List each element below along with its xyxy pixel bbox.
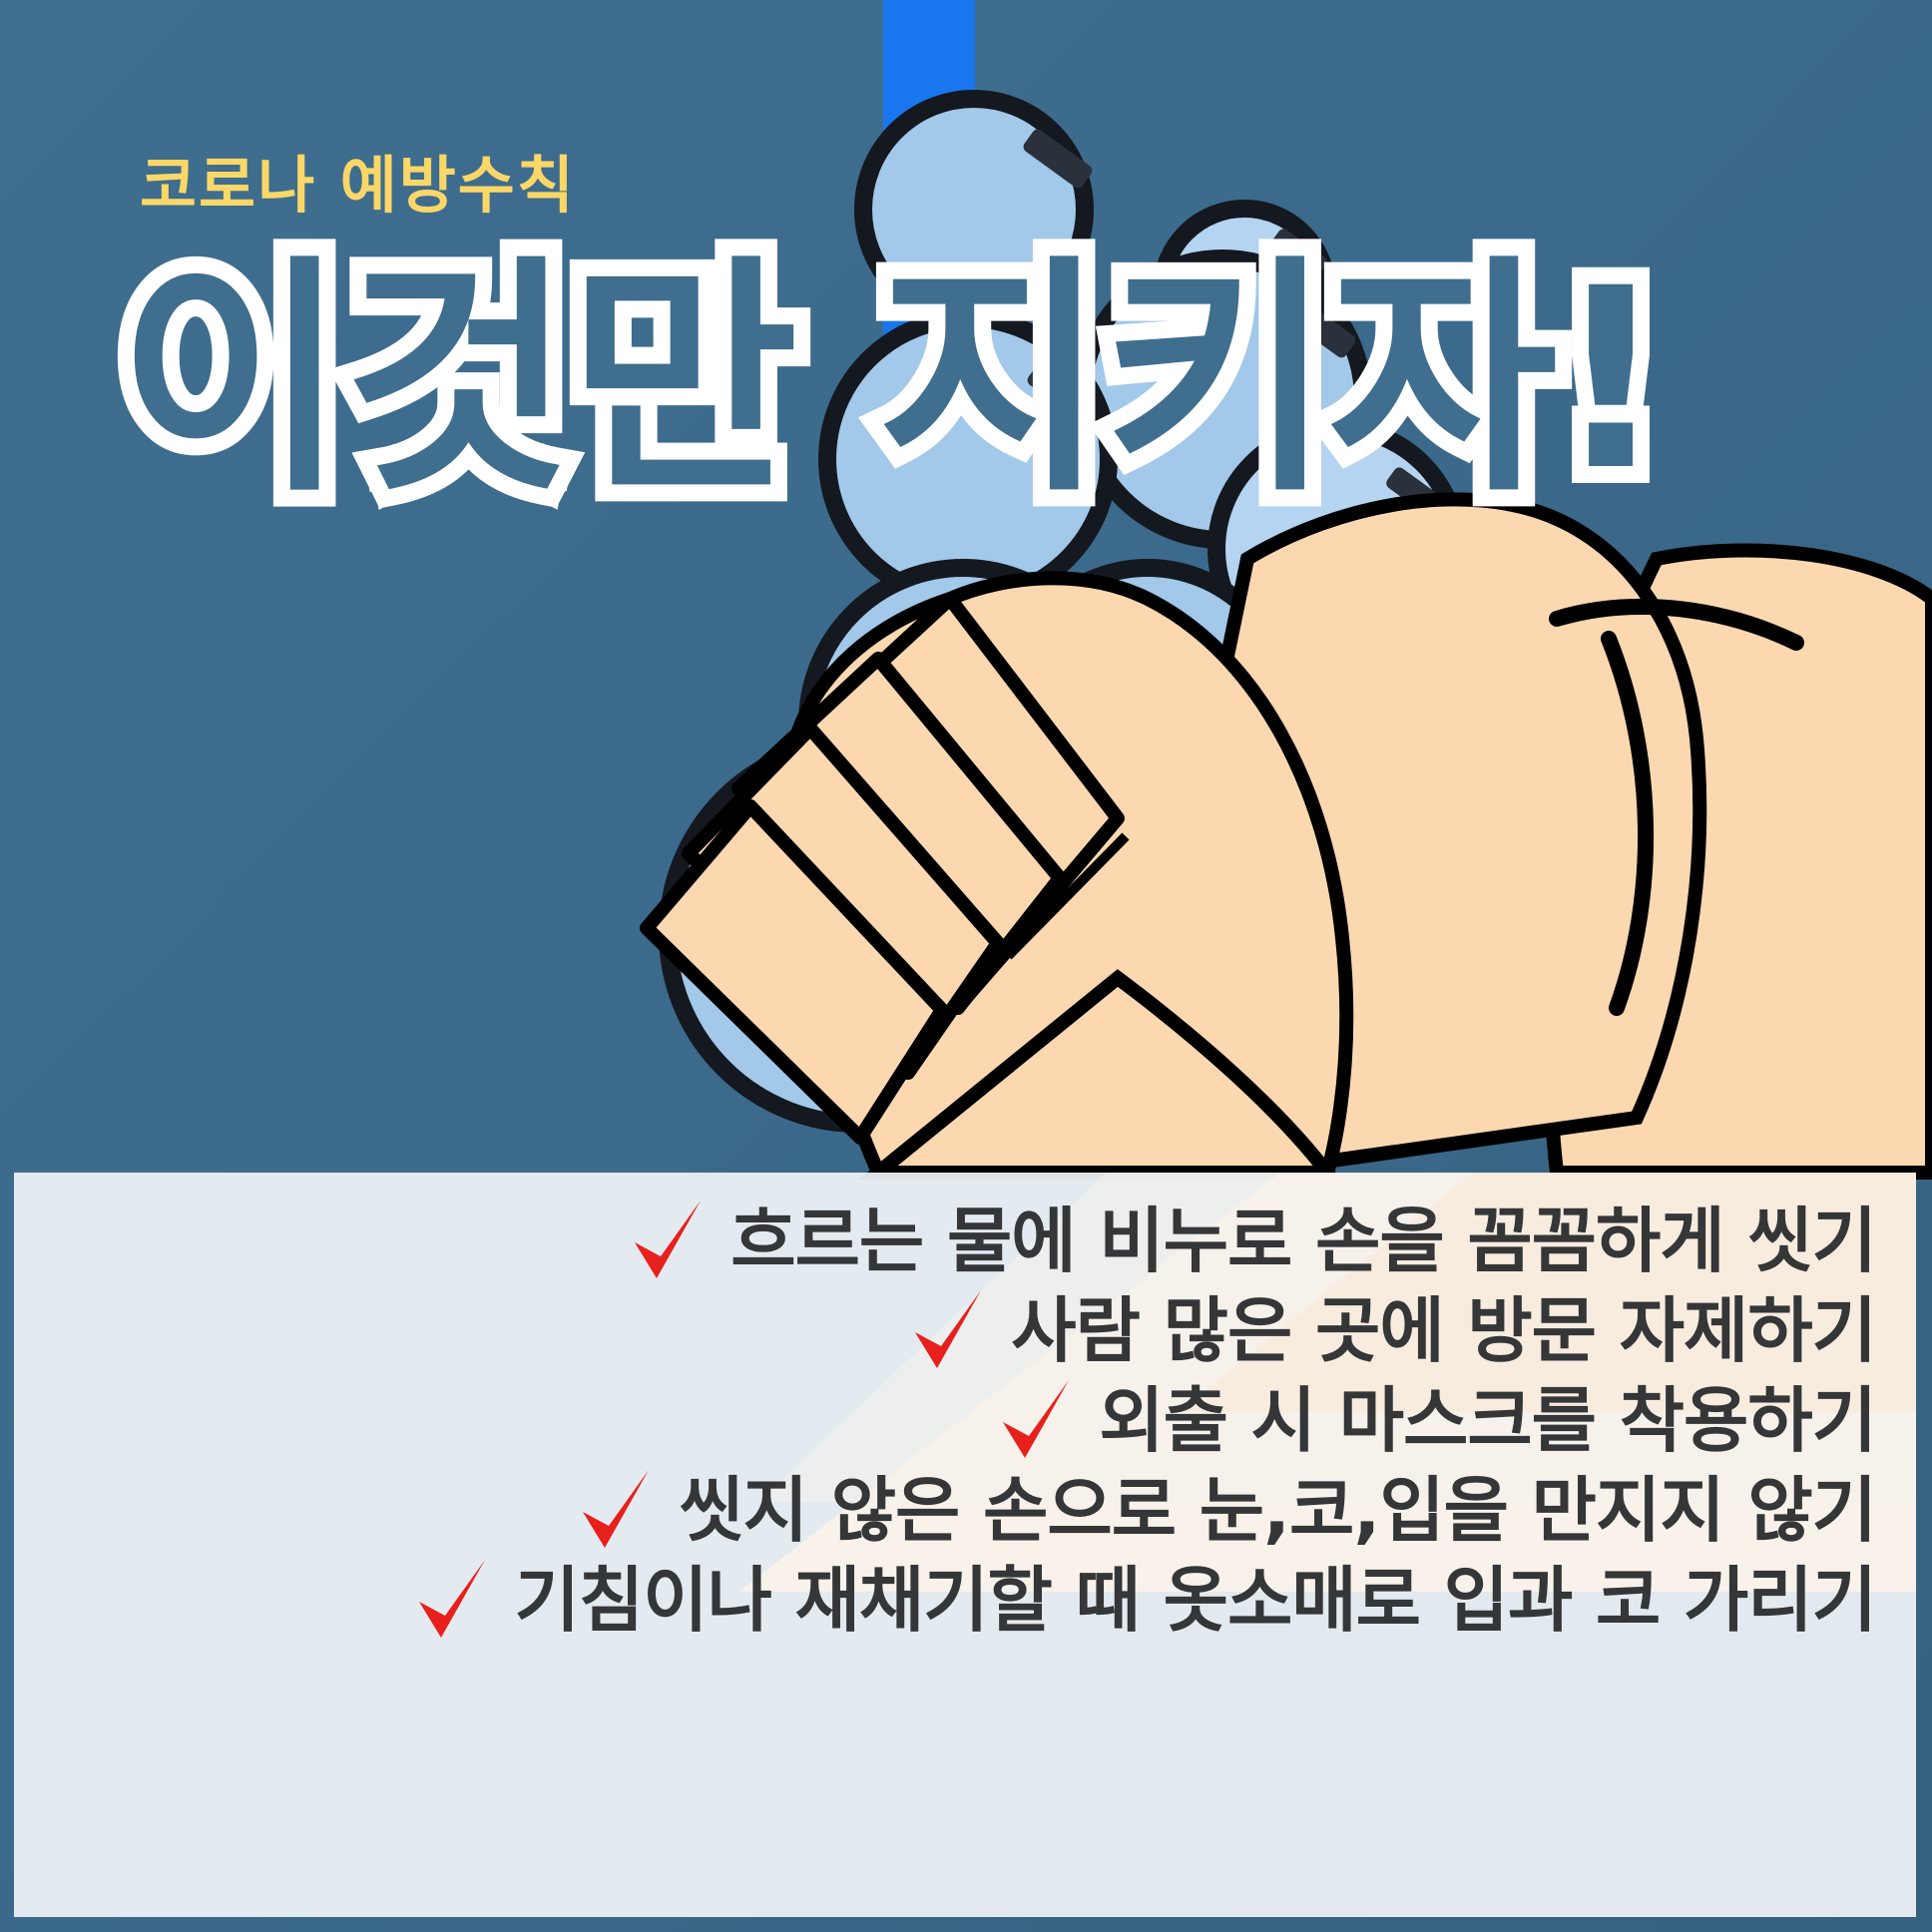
check-icon — [415, 1558, 489, 1644]
list-item: 사람 많은 곳에 방문 자제하기 — [911, 1288, 1876, 1374]
list-item: 외출 시 마스크를 착용하기 — [999, 1378, 1876, 1464]
list-item-label: 흐르는 물에 비누로 손을 꼼꼼하게 씻기 — [730, 1205, 1876, 1279]
list-item: 흐르는 물에 비누로 손을 꼼꼼하게 씻기 — [631, 1199, 1876, 1284]
prevention-checklist: 흐르는 물에 비누로 손을 꼼꼼하게 씻기 사람 많은 곳에 방문 자제하기 외… — [14, 1173, 1916, 1644]
check-icon — [911, 1288, 985, 1374]
check-icon — [579, 1468, 653, 1554]
list-item-label: 사람 많은 곳에 방문 자제하기 — [1011, 1294, 1876, 1369]
poster-subtitle: 코로나 예방수칙 — [140, 135, 576, 225]
covid-prevention-poster: 코로나 예방수칙 이것만 지키자! 흐르는 물에 비누로 손을 꼼꼼하게 씻기 … — [0, 0, 1932, 1932]
poster-title: 이것만 지키자! — [118, 249, 1664, 512]
list-item: 씻지 않은 손으로 눈,코,입을 만지지 않기 — [579, 1468, 1876, 1554]
list-item: 기침이나 재채기할 때 옷소매로 입과 코 가리기 — [415, 1558, 1876, 1644]
list-item-label: 씻지 않은 손으로 눈,코,입을 만지지 않기 — [679, 1474, 1876, 1549]
list-item-label: 기침이나 재채기할 때 옷소매로 입과 코 가리기 — [515, 1564, 1876, 1639]
list-item-label: 외출 시 마스크를 착용하기 — [1099, 1384, 1876, 1459]
checklist-panel: 흐르는 물에 비누로 손을 꼼꼼하게 씻기 사람 많은 곳에 방문 자제하기 외… — [14, 1173, 1916, 1917]
check-icon — [999, 1378, 1073, 1464]
check-icon — [631, 1199, 705, 1284]
